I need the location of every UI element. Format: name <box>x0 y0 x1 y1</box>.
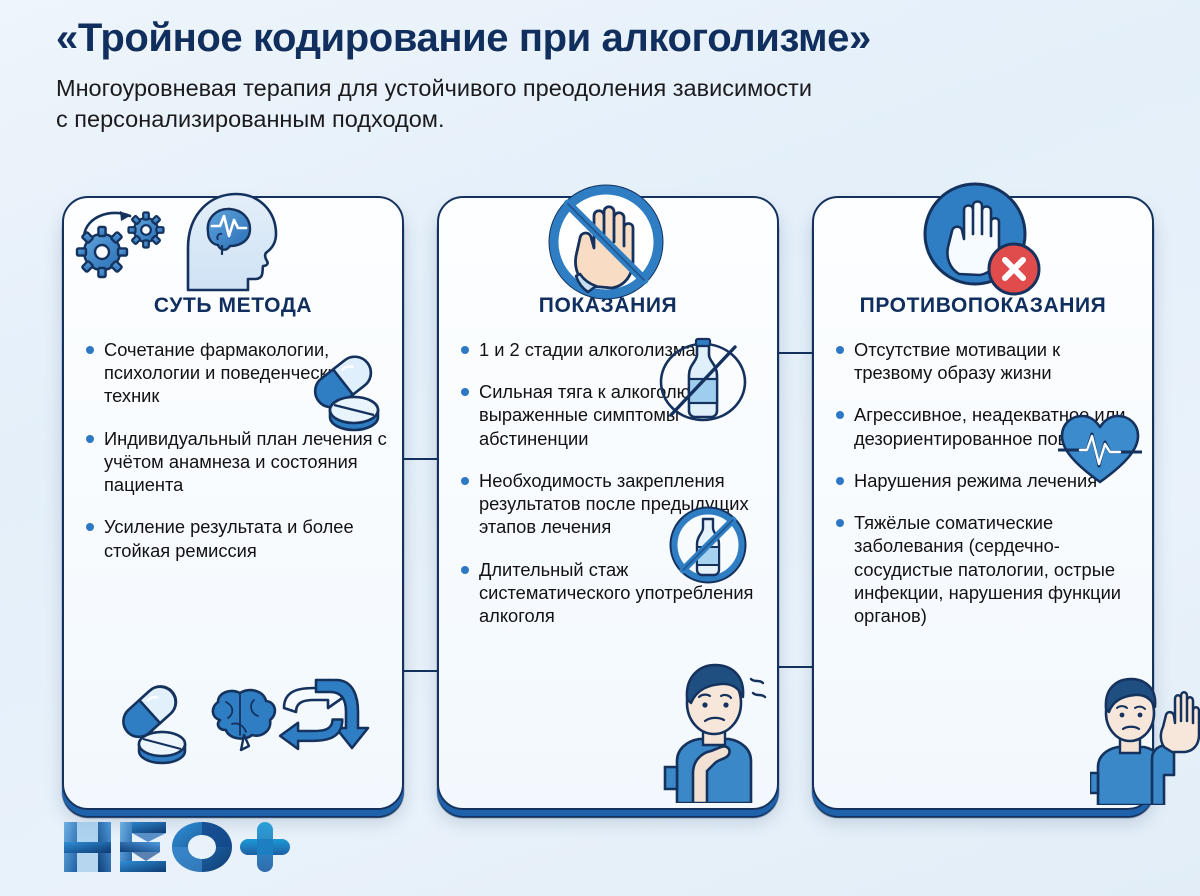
hand-stop-with-red-x-icon <box>915 176 1047 308</box>
logo-letter-n <box>64 822 111 872</box>
subtitle-line-1: Многоуровневая терапия для устойчивого п… <box>56 75 812 101</box>
header: «Тройное кодирование при алкоголизме» Мн… <box>56 16 1166 135</box>
list-item: Сильная тяга к алкоголю и выраженные сим… <box>459 380 763 450</box>
card-3-bullet-list: Отсутствие мотивации к трезвому образу ж… <box>834 338 1138 627</box>
card-1-body: Сочетание фармакологии, психологии и пов… <box>84 338 388 798</box>
card-1-heading: СУТЬ МЕТОДА <box>64 294 402 318</box>
list-item: Отсутствие мотивации к трезвому образу ж… <box>834 338 1138 384</box>
list-item: Тяжёлые соматические заболевания (сердеч… <box>834 511 1138 627</box>
list-item: Сочетание фармакологии, психологии и пов… <box>84 338 388 408</box>
subtitle-line-2: с персонализированным подходом. <box>56 106 444 132</box>
page-subtitle: Многоуровневая терапия для устойчивого п… <box>56 73 1166 136</box>
list-item: Необходимость закрепления результатов по… <box>459 469 763 539</box>
card-3-body: Отсутствие мотивации к трезвому образу ж… <box>834 338 1138 798</box>
list-item: Усиление результата и более стойкая реми… <box>84 515 388 561</box>
list-item: Нарушения режима лечения <box>834 469 1138 492</box>
card-1-bullet-list: Сочетание фармакологии, психологии и пов… <box>84 338 388 562</box>
no-hand-stop-icon <box>540 176 672 308</box>
list-item: Длительный стаж систематического употреб… <box>459 558 763 628</box>
list-item: 1 и 2 стадии алкоголизма <box>459 338 763 361</box>
card-2-body: 1 и 2 стадии алкоголизма Сильная тяга к … <box>459 338 763 798</box>
logo-letter-o <box>172 822 232 872</box>
page-title: «Тройное кодирование при алкоголизме» <box>56 16 1166 61</box>
neo-plus-logo[interactable] <box>62 818 292 880</box>
list-item: Индивидуальный план лечения с учётом ана… <box>84 427 388 497</box>
card-2-bullet-list: 1 и 2 стадии алкоголизма Сильная тяга к … <box>459 338 763 627</box>
list-item: Агрессивное, неадекватное или дезориенти… <box>834 403 1138 449</box>
gears-head-brain-pulse-icon <box>70 186 280 292</box>
infographic-page: «Тройное кодирование при алкоголизме» Мн… <box>0 0 1200 896</box>
logo-letter-e <box>120 822 166 872</box>
logo-plus-icon <box>240 822 290 872</box>
